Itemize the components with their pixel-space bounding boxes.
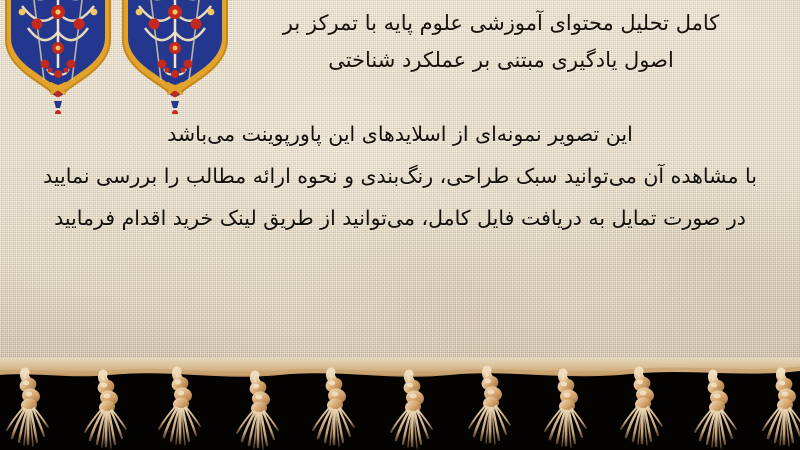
body-line-2: با مشاهده آن می‌توانید سبک طراحی، رنگ‌بن… <box>8 155 792 197</box>
slide-canvas: کامل تحلیل محتوای آموزشی علوم پایه با تم… <box>0 0 800 450</box>
title-line-1: کامل تحلیل محتوای آموزشی علوم پایه با تم… <box>216 5 786 42</box>
slide-body: این تصویر نمونه‌ای از اسلایدهای این پاور… <box>8 113 792 239</box>
body-line-1: این تصویر نمونه‌ای از اسلایدهای این پاور… <box>8 113 792 155</box>
slide-title: کامل تحلیل محتوای آموزشی علوم پایه با تم… <box>216 5 786 79</box>
slide-text-layer: کامل تحلیل محتوای آموزشی علوم پایه با تم… <box>0 0 800 382</box>
body-line-3: در صورت تمایل به دریافت فایل کامل، می‌تو… <box>8 197 792 239</box>
title-line-2: اصول یادگیری مبتنی بر عملکرد شناختی <box>216 42 786 79</box>
carpet-fringe <box>0 358 800 450</box>
tassel-row <box>7 370 800 449</box>
